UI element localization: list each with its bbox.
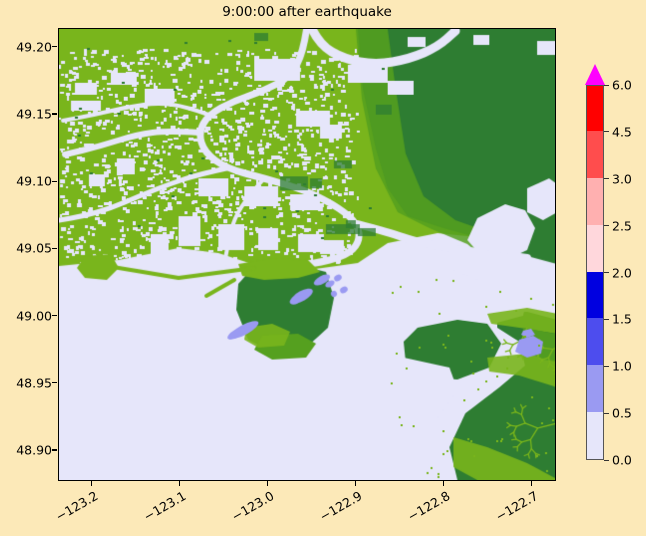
colorbar-segment (587, 365, 603, 412)
colorbar-tick-label: 3.0 (612, 171, 632, 186)
colorbar[interactable] (586, 85, 604, 460)
colorbar-tick-mark (604, 272, 609, 273)
x-axis: −123.2−123.1−123.0−122.9−122.8−122.7 (0, 0, 646, 536)
x-axis-tick-mark (531, 481, 532, 486)
colorbar-tick-mark (604, 178, 609, 179)
colorbar-over-arrow (585, 64, 605, 85)
x-axis-tick-label: −122.7 (480, 488, 541, 532)
x-axis-tick-mark (179, 481, 180, 486)
colorbar-tick-label: 1.5 (612, 312, 632, 327)
colorbar-segment (587, 271, 603, 318)
x-axis-tick-label: −123.0 (216, 488, 277, 532)
figure-canvas: 9:00:00 after earthquake 49.2049.1549.10… (0, 0, 646, 536)
x-axis-tick-mark (91, 481, 92, 486)
colorbar-tick-label: 1.0 (612, 359, 632, 374)
x-axis-tick-mark (443, 481, 444, 486)
colorbar-tick-mark (604, 225, 609, 226)
colorbar-segment (587, 318, 603, 365)
colorbar-tick-mark (604, 413, 609, 414)
colorbar-tick-label: 6.0 (612, 78, 632, 93)
colorbar-tick-mark (604, 85, 609, 86)
colorbar-segment (587, 130, 603, 177)
colorbar-tick-mark (604, 460, 609, 461)
x-axis-tick-mark (355, 481, 356, 486)
colorbar-segment (587, 177, 603, 224)
colorbar-tick-mark (604, 131, 609, 132)
colorbar-tick-label: 0.5 (612, 406, 632, 421)
colorbar-tick-label: 2.0 (612, 265, 632, 280)
x-axis-tick-mark (267, 481, 268, 486)
x-axis-tick-label: −122.9 (304, 488, 365, 532)
colorbar-tick-label: 2.5 (612, 218, 632, 233)
colorbar-segment (587, 85, 603, 131)
x-axis-tick-label: −123.1 (128, 488, 189, 532)
colorbar-tick-mark (604, 319, 609, 320)
x-axis-tick-label: −123.2 (40, 488, 101, 532)
colorbar-tick-mark (604, 366, 609, 367)
colorbar-segment (587, 224, 603, 271)
x-axis-tick-label: −122.8 (392, 488, 453, 532)
colorbar-tick-label: 0.0 (612, 453, 632, 468)
colorbar-tick-label: 4.5 (612, 124, 632, 139)
colorbar-segment (587, 412, 603, 459)
